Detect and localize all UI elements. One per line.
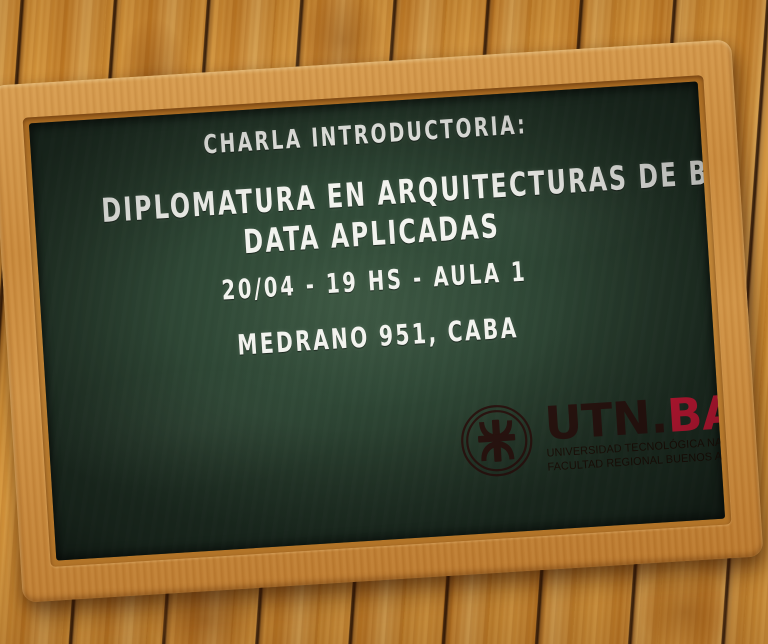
- event-location: MEDRANO 951, CABA: [109, 303, 646, 370]
- logo-subtitle-line-2: FACULTAD REGIONAL BUENOS AIRES: [547, 448, 725, 475]
- poster-stage: CHARLA INTRODUCTORIA: DIPLOMATURA EN ARQ…: [0, 0, 768, 644]
- chalkboard-surface: CHARLA INTRODUCTORIA: DIPLOMATURA EN ARQ…: [29, 81, 725, 560]
- board-vignette: [29, 81, 725, 560]
- event-heading-line-1: DIPLOMATURA EN ARQUITECTURAS DE BIG: [100, 157, 637, 230]
- utn-ba-wordmark-block: UTN.BA UNIVERSIDAD TECNOLÓGICA NACIONAL …: [543, 387, 725, 475]
- chalk-dust-texture: [29, 81, 725, 560]
- logo-subtitle-line-1: UNIVERSIDAD TECNOLÓGICA NACIONAL: [546, 434, 725, 461]
- utn-sun-emblem-icon: [458, 401, 537, 480]
- wordmark-utn: UTN.: [543, 389, 669, 451]
- event-heading-line-2: DATA APLICADAS: [103, 197, 640, 270]
- wordmark-ba: BA: [666, 385, 726, 443]
- event-title: CHARLA INTRODUCTORIA:: [97, 104, 634, 168]
- utn-ba-logo: UTN.BA UNIVERSIDAD TECNOLÓGICA NACIONAL …: [457, 379, 725, 489]
- event-schedule: 20/04 - 19 HS - AULA 1: [106, 249, 643, 314]
- utn-ba-wordmark: UTN.BA: [543, 389, 725, 447]
- chalkboard-assembly: CHARLA INTRODUCTORIA: DIPLOMATURA EN ARQ…: [0, 39, 764, 603]
